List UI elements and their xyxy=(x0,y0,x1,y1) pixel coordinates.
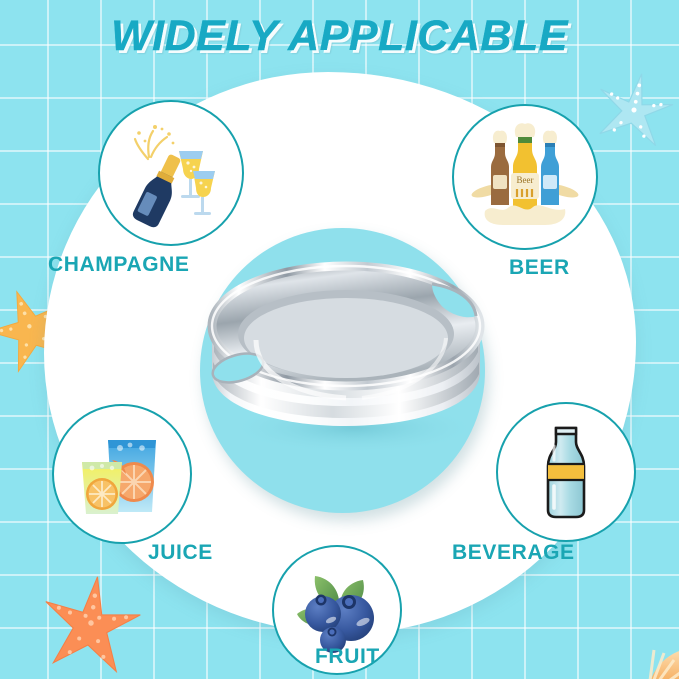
infographic-canvas: CHAMPAGNE xyxy=(0,0,679,679)
feature-bubble-beverage[interactable] xyxy=(496,402,636,542)
feature-bubble-champagne[interactable] xyxy=(98,100,244,246)
citrus-juice-glasses-icon xyxy=(68,420,176,528)
champagne-bottle-and-flutes-icon xyxy=(115,117,227,229)
page-title: WIDELY APPLICABLE xyxy=(0,12,679,61)
starfish-icon-top-right xyxy=(592,68,676,157)
feature-label-beverage: BEVERAGE xyxy=(452,541,575,565)
starfish-icon-bottom-left xyxy=(38,570,144,679)
feature-label-champagne: CHAMPAGNE xyxy=(48,253,190,277)
soda-bottle-icon xyxy=(514,420,618,524)
product-image-stainless-steel-beverage-tub xyxy=(196,222,496,472)
seashell-icon-bottom-right xyxy=(598,608,679,679)
feature-label-juice: JUICE xyxy=(148,541,213,565)
feature-bubble-juice[interactable] xyxy=(52,404,192,544)
feature-label-fruit: FRUIT xyxy=(315,645,380,669)
beer-bottles-with-foam-icon: Beer xyxy=(467,119,583,235)
feature-bubble-beer[interactable]: Beer xyxy=(452,104,598,250)
beer-bottle-label-text: Beer xyxy=(517,175,534,185)
feature-label-beer: BEER xyxy=(509,256,570,280)
